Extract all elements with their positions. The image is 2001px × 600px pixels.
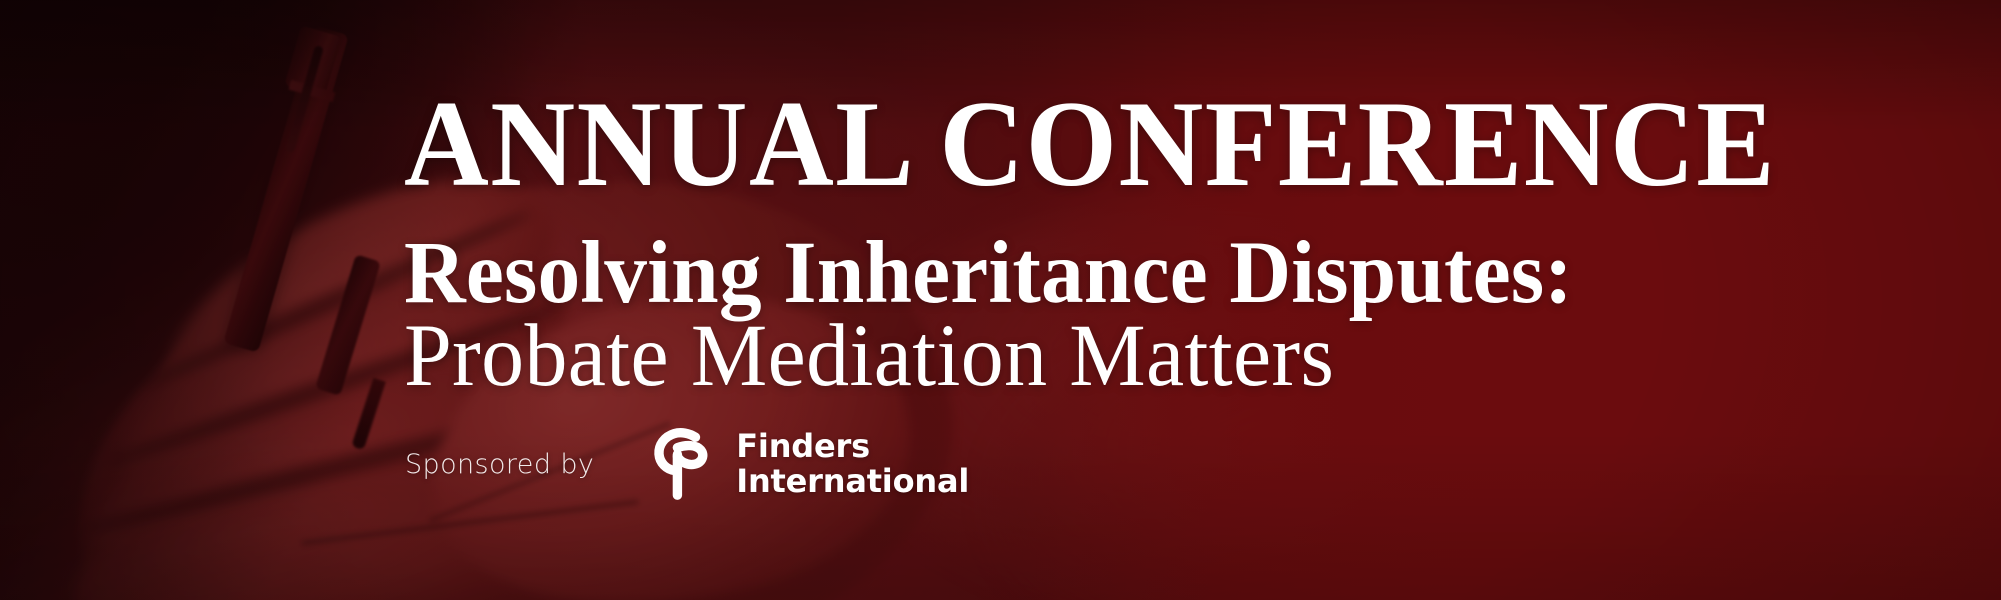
finders-international-monogram-icon (648, 427, 720, 501)
banner-title-line-1: Resolving Inheritance Disputes: (404, 229, 1573, 318)
logo-word-line-1: Finders (736, 429, 969, 464)
sponsor-row: Sponsored by Finders International (405, 428, 969, 500)
banner-content: ANNUAL CONFERENCE Resolving Inheritance … (404, 0, 1964, 600)
finders-international-wordmark: Finders International (736, 429, 969, 498)
finders-international-logo[interactable]: Finders International (648, 427, 969, 501)
logo-word-line-2: International (736, 464, 969, 499)
sponsored-by-label: Sponsored by (405, 449, 594, 480)
banner-eyebrow-annual-conference: ANNUAL CONFERENCE (404, 82, 1776, 205)
conference-banner: ANNUAL CONFERENCE Resolving Inheritance … (0, 0, 2001, 600)
banner-title-line-2: Probate Mediation Matters (404, 312, 1334, 401)
